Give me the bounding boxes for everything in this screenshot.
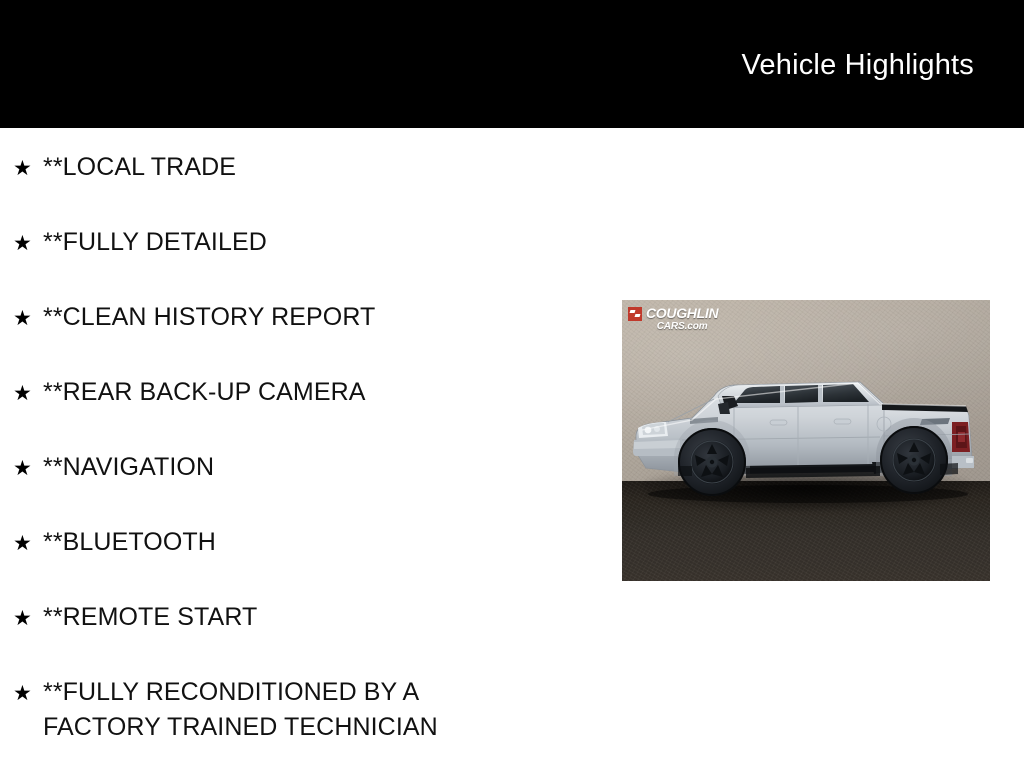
list-item-label: **LOCAL TRADE	[34, 128, 600, 185]
list-item-label: **BLUETOOTH	[34, 503, 600, 560]
star-icon: ★	[13, 128, 34, 184]
star-icon: ★	[13, 428, 34, 484]
vehicle-photo: COUGHLIN CARS.com	[622, 300, 990, 581]
star-icon: ★	[13, 353, 34, 409]
vehicle-highlights-list: ★ **LOCAL TRADE ★ **FULLY DETAILED ★ **C…	[0, 128, 600, 728]
list-item: ★ **REMOTE START	[0, 578, 600, 653]
list-item-label: **FULLY RECONDITIONED BY A FACTORY TRAIN…	[34, 653, 600, 745]
star-icon: ★	[13, 653, 34, 709]
star-icon: ★	[13, 278, 34, 334]
star-icon: ★	[13, 578, 34, 634]
coughlin-logo-icon	[628, 307, 642, 321]
list-item: ★ **FULLY DETAILED	[0, 203, 600, 278]
list-item-label: **REAR BACK-UP CAMERA	[34, 353, 600, 410]
truck-illustration	[622, 300, 990, 581]
list-item: ★ **NAVIGATION	[0, 428, 600, 503]
list-item: ★ **LOCAL TRADE	[0, 128, 600, 203]
list-item: ★ **REAR BACK-UP CAMERA	[0, 353, 600, 428]
list-item: ★ **BLUETOOTH	[0, 503, 600, 578]
dealer-watermark: COUGHLIN CARS.com	[628, 306, 718, 332]
list-item: ★ **FULLY RECONDITIONED BY A FACTORY TRA…	[0, 653, 600, 728]
page-title: Vehicle Highlights	[741, 48, 974, 82]
header-bar: Vehicle Highlights	[0, 0, 1024, 128]
list-item-label: **REMOTE START	[34, 578, 600, 635]
star-icon: ★	[13, 503, 34, 559]
watermark-line-2: CARS.com	[646, 322, 718, 332]
list-item-label: **FULLY DETAILED	[34, 203, 600, 260]
list-item-label: **CLEAN HISTORY REPORT	[34, 278, 600, 335]
star-icon: ★	[13, 203, 34, 259]
list-item: ★ **CLEAN HISTORY REPORT	[0, 278, 600, 353]
list-item-label: **NAVIGATION	[34, 428, 600, 485]
watermark-line-1: COUGHLIN	[646, 306, 718, 320]
